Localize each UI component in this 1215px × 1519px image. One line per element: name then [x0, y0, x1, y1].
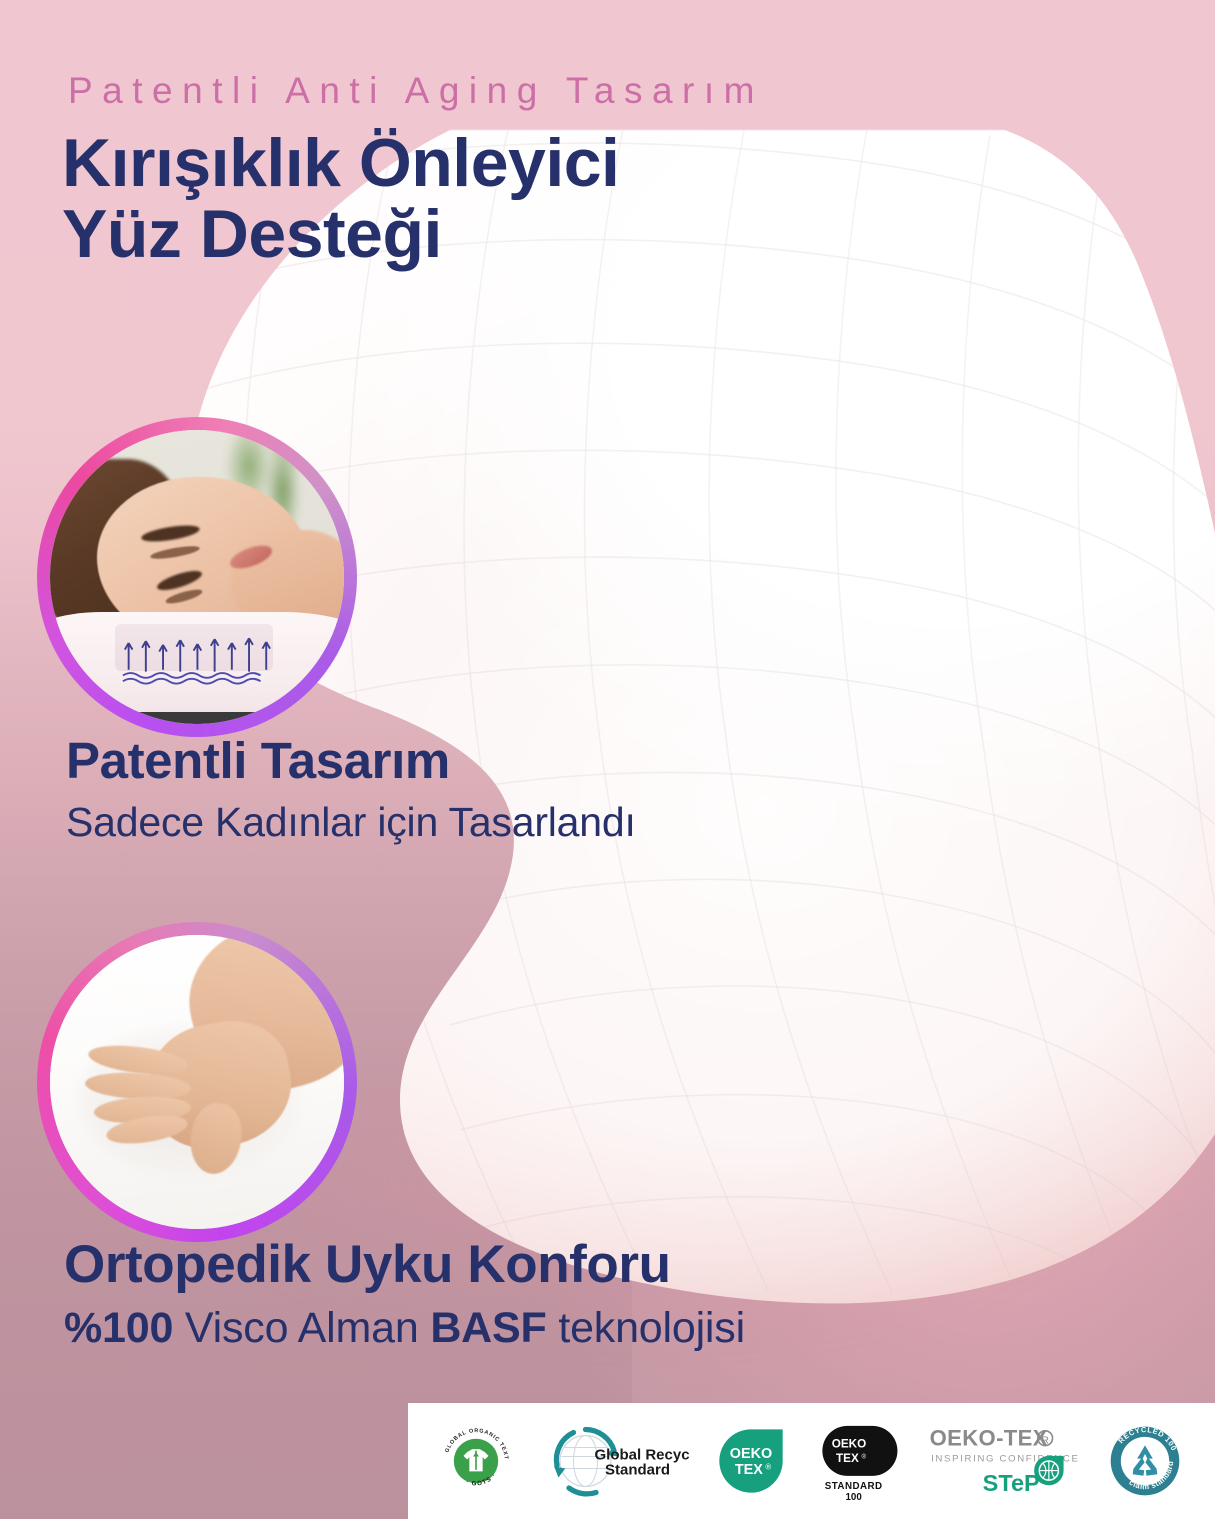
svg-text:®: ® — [765, 1463, 771, 1472]
airflow-arrows-icon — [121, 624, 274, 689]
svg-text:TEX: TEX — [735, 1462, 763, 1478]
svg-text:®: ® — [861, 1454, 866, 1461]
feature-subtitle-suffix: teknolojisi — [547, 1304, 745, 1352]
svg-text:Standard: Standard — [605, 1462, 670, 1479]
feature-photo-sleeping-woman — [37, 417, 357, 737]
feature-subtitle: %100 Visco Alman BASF teknolojisi — [64, 1302, 745, 1354]
svg-text:OEKO: OEKO — [730, 1446, 772, 1462]
feature-subtitle-percent: %100 — [64, 1304, 173, 1352]
feature-subtitle: Sadece Kadınlar için Tasarlandı — [66, 797, 636, 847]
tagline: Patentli Anti Aging Tasarım — [68, 70, 764, 112]
svg-text:R: R — [1041, 1435, 1048, 1446]
recycled-100-claim-standard-icon: RECYCLED 100 claim standard — [1106, 1422, 1184, 1500]
svg-text:100: 100 — [846, 1492, 863, 1503]
oeko-tex-step-icon: OEKO-TEX R INSPIRING CONFIDENCE STeP — [925, 1422, 1080, 1500]
certification-bar: GLOBAL ORGANIC TEXTILE STANDARD · GOTS · — [408, 1403, 1215, 1519]
page-title: Kırışıklık Önleyici Yüz Desteği — [62, 128, 619, 269]
product-poster: Patentli Anti Aging Tasarım Kırışıklık Ö… — [0, 0, 1215, 1519]
global-recycled-standard-icon: Global Recycled Standard — [539, 1425, 689, 1497]
photo-inner — [50, 935, 344, 1229]
svg-text:OEKO-TEX: OEKO-TEX — [930, 1426, 1048, 1451]
svg-text:STeP: STeP — [983, 1470, 1040, 1496]
svg-text:TEX: TEX — [836, 1452, 859, 1465]
feature-subtitle-mid: Visco Alman — [173, 1304, 430, 1352]
feature-block-patentli-tasarim: Patentli Tasarım Sadece Kadınlar için Ta… — [66, 733, 636, 847]
svg-text:OEKO: OEKO — [832, 1438, 867, 1451]
headline-line-1: Kırışıklık Önleyici — [62, 125, 619, 201]
feature-block-ortopedik-uyku-konforu: Ortopedik Uyku Konforu %100 Visco Alman … — [64, 1236, 745, 1355]
feature-title: Ortopedik Uyku Konforu — [64, 1236, 745, 1294]
gots-badge-icon: GLOBAL ORGANIC TEXTILE STANDARD · GOTS · — [439, 1424, 513, 1498]
photo-inner — [50, 430, 344, 724]
feature-title: Patentli Tasarım — [66, 733, 636, 789]
oeko-tex-standard-100-icon: OEKO TEX ® STANDARD 100 — [813, 1418, 899, 1504]
feature-subtitle-brand: BASF — [430, 1304, 546, 1352]
feature-photo-hand-on-foam — [37, 922, 357, 1242]
headline-line-2: Yüz Desteği — [62, 199, 619, 270]
svg-text:STANDARD: STANDARD — [825, 1481, 883, 1492]
oeko-tex-leaf-icon: OEKO TEX ® — [715, 1425, 787, 1497]
pillow-base-strip — [109, 712, 291, 724]
